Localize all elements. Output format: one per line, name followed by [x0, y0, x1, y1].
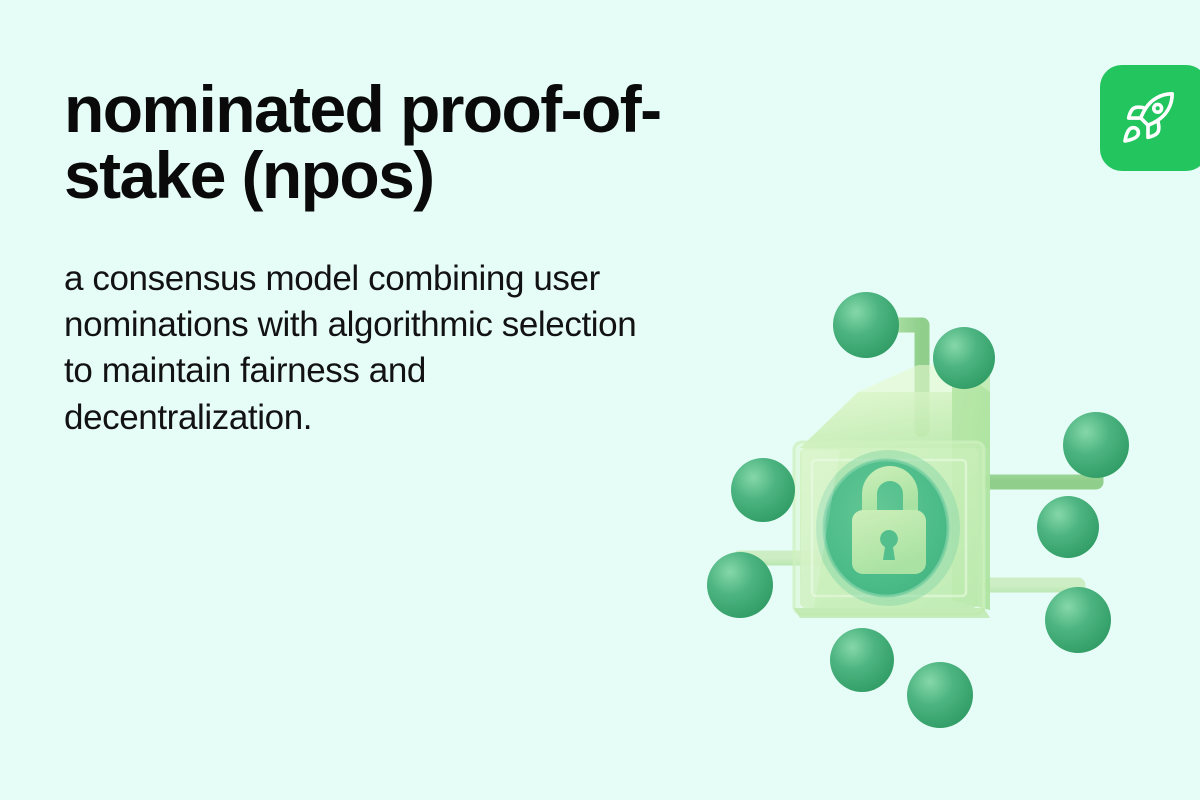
network-node [833, 292, 899, 358]
network-node [933, 327, 995, 389]
glossary-term-card: nominated proof-of-stake (npos) a consen… [0, 0, 1200, 800]
rocket-icon [1119, 89, 1177, 147]
page-title: nominated proof-of-stake (npos) [64, 76, 684, 208]
network-node [830, 628, 894, 692]
network-node [1037, 496, 1099, 558]
network-node [731, 458, 795, 522]
network-node [707, 552, 773, 618]
network-node [1045, 587, 1111, 653]
text-column: nominated proof-of-stake (npos) a consen… [64, 76, 684, 441]
page-description: a consensus model combining user nominat… [64, 256, 664, 441]
network-node [1063, 412, 1129, 478]
cube-bottom-lip [794, 608, 990, 618]
rocket-badge[interactable] [1100, 65, 1200, 171]
network-node [907, 662, 973, 728]
secure-network-cube-illustration [690, 270, 1160, 740]
glass-cube [794, 365, 990, 618]
